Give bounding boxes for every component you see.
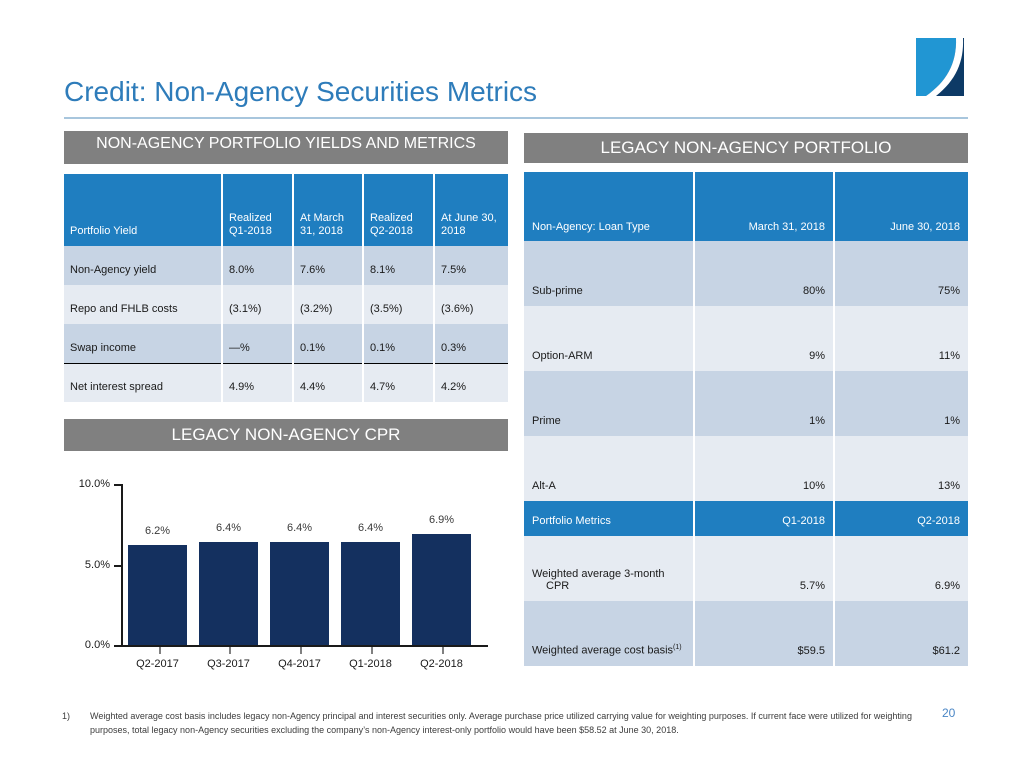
header-realized-q1: Realized Q1-2018 [222, 174, 293, 246]
chart-y-axis [121, 484, 123, 646]
cell-value: 8.0% [222, 246, 293, 285]
cell-value: (3.2%) [293, 285, 363, 324]
cell-value: 4.7% [363, 363, 434, 402]
bar-q2-2018 [412, 534, 471, 645]
cell-value: 4.9% [222, 363, 293, 402]
table-row: Net interest spread 4.9% 4.4% 4.7% 4.2% [64, 363, 508, 402]
table-header-row: Portfolio Yield Realized Q1-2018 At Marc… [64, 174, 508, 246]
row-label: Swap income [64, 324, 222, 363]
bar-data-label: 6.9% [412, 514, 471, 526]
chart-y-tick-mark [114, 565, 121, 567]
table-row: Non-Agency yield 8.0% 7.6% 8.1% 7.5% [64, 246, 508, 285]
header-portfolio-yield: Portfolio Yield [64, 174, 222, 246]
bar-data-label: 6.4% [341, 522, 400, 534]
subheader-q1: Q1-2018 [694, 501, 834, 536]
cell-value: 7.6% [293, 246, 363, 285]
chart-x-tick-label: Q3-2017 [195, 658, 262, 670]
row-label: Repo and FHLB costs [64, 285, 222, 324]
chart-y-tick-mark [114, 645, 121, 647]
row-label: Sub-prime [524, 241, 694, 306]
table-row: Alt-A 10% 13% [524, 436, 968, 501]
row-label-line2: CPR [532, 580, 569, 592]
cell-value: 6.9% [834, 536, 968, 601]
chart-x-tick-label: Q2-2017 [124, 658, 191, 670]
header-loan-type: Non-Agency: Loan Type [524, 172, 694, 241]
cell-value: 13% [834, 436, 968, 501]
chart-x-tick-mark [442, 647, 444, 654]
row-label-cpr: Weighted average 3-month CPR [524, 536, 694, 601]
row-label: Net interest spread [64, 363, 222, 402]
chart-x-tick-label: Q1-2018 [337, 658, 404, 670]
bar-data-label: 6.2% [128, 525, 187, 537]
cell-value: (3.6%) [434, 285, 508, 324]
header-at-march: At March 31, 2018 [293, 174, 363, 246]
footnote-marker: 1) [62, 710, 86, 724]
cell-value: (3.5%) [363, 285, 434, 324]
row-label: Option-ARM [524, 306, 694, 371]
cell-value: —% [222, 324, 293, 363]
header-march-31: March 31, 2018 [694, 172, 834, 241]
footnote-ref: (1) [673, 644, 682, 651]
portfolio-yield-table: Portfolio Yield Realized Q1-2018 At Marc… [64, 174, 508, 402]
cell-value: 1% [834, 371, 968, 436]
cell-value: 0.3% [434, 324, 508, 363]
footnote: 1) Weighted average cost basis includes … [62, 710, 952, 737]
cell-value: $61.2 [834, 601, 968, 666]
header-at-june: At June 30, 2018 [434, 174, 508, 246]
cell-value: 8.1% [363, 246, 434, 285]
bar-q1-2018 [341, 542, 400, 645]
row-label-text: Weighted average cost basis [532, 645, 673, 657]
cell-value: 11% [834, 306, 968, 371]
header-june-30: June 30, 2018 [834, 172, 968, 241]
chart-y-tick-label: 0.0% [64, 639, 110, 651]
chart-x-tick-label: Q4-2017 [266, 658, 333, 670]
company-logo [916, 38, 964, 96]
title-divider [64, 117, 968, 119]
legacy-portfolio-table: Non-Agency: Loan Type March 31, 2018 Jun… [524, 172, 968, 666]
cell-value: 1% [694, 371, 834, 436]
subheader-q2: Q2-2018 [834, 501, 968, 536]
page-title: Credit: Non-Agency Securities Metrics [64, 76, 537, 108]
row-label: Alt-A [524, 436, 694, 501]
cell-value: 75% [834, 241, 968, 306]
cell-value: 5.7% [694, 536, 834, 601]
table-subheader-row: Portfolio Metrics Q1-2018 Q2-2018 [524, 501, 968, 536]
cell-value: 4.2% [434, 363, 508, 402]
section-header-portfolio: LEGACY NON-AGENCY PORTFOLIO [524, 133, 968, 163]
chart-x-tick-mark [371, 647, 373, 654]
chart-x-tick-mark [300, 647, 302, 654]
table-row: Sub-prime 80% 75% [524, 241, 968, 306]
row-label-cost-basis: Weighted average cost basis(1) [524, 601, 694, 666]
table-header-row: Non-Agency: Loan Type March 31, 2018 Jun… [524, 172, 968, 241]
chart-x-tick-mark [229, 647, 231, 654]
chart-x-tick-label: Q2-2018 [408, 658, 475, 670]
chart-x-axis [121, 645, 488, 647]
header-realized-q2: Realized Q2-2018 [363, 174, 434, 246]
section-header-yields: NON-AGENCY PORTFOLIO YIELDS AND METRICS [64, 131, 508, 164]
page-number: 20 [942, 706, 955, 720]
cell-value: (3.1%) [222, 285, 293, 324]
section-header-cpr: LEGACY NON-AGENCY CPR [64, 419, 508, 451]
cell-value: 0.1% [363, 324, 434, 363]
cell-value: 4.4% [293, 363, 363, 402]
cell-value: $59.5 [694, 601, 834, 666]
cell-value: 10% [694, 436, 834, 501]
cell-value: 0.1% [293, 324, 363, 363]
legacy-cpr-bar-chart: 10.0% 5.0% 0.0% 6.2% 6.4% 6.4% 6.4% 6.9%… [64, 460, 508, 680]
table-row: Option-ARM 9% 11% [524, 306, 968, 371]
bar-data-label: 6.4% [199, 522, 258, 534]
row-label: Prime [524, 371, 694, 436]
bar-q2-2017 [128, 545, 187, 645]
table-row: Prime 1% 1% [524, 371, 968, 436]
chart-y-tick-label: 10.0% [64, 478, 110, 490]
footnote-text: Weighted average cost basis includes leg… [90, 710, 952, 737]
bar-data-label: 6.4% [270, 522, 329, 534]
cell-value: 80% [694, 241, 834, 306]
bar-q3-2017 [199, 542, 258, 645]
row-label-line1: Weighted average 3-month [532, 568, 665, 580]
table-row: Weighted average cost basis(1) $59.5 $61… [524, 601, 968, 666]
chart-y-tick-label: 5.0% [64, 559, 110, 571]
table-row: Weighted average 3-month CPR 5.7% 6.9% [524, 536, 968, 601]
chart-x-tick-mark [159, 647, 161, 654]
subheader-portfolio-metrics: Portfolio Metrics [524, 501, 694, 536]
table-row: Repo and FHLB costs (3.1%) (3.2%) (3.5%)… [64, 285, 508, 324]
cell-value: 9% [694, 306, 834, 371]
cell-value: 7.5% [434, 246, 508, 285]
chart-y-tick-mark [114, 484, 121, 486]
bar-q4-2017 [270, 542, 329, 645]
table-row: Swap income —% 0.1% 0.1% 0.3% [64, 324, 508, 363]
row-label: Non-Agency yield [64, 246, 222, 285]
